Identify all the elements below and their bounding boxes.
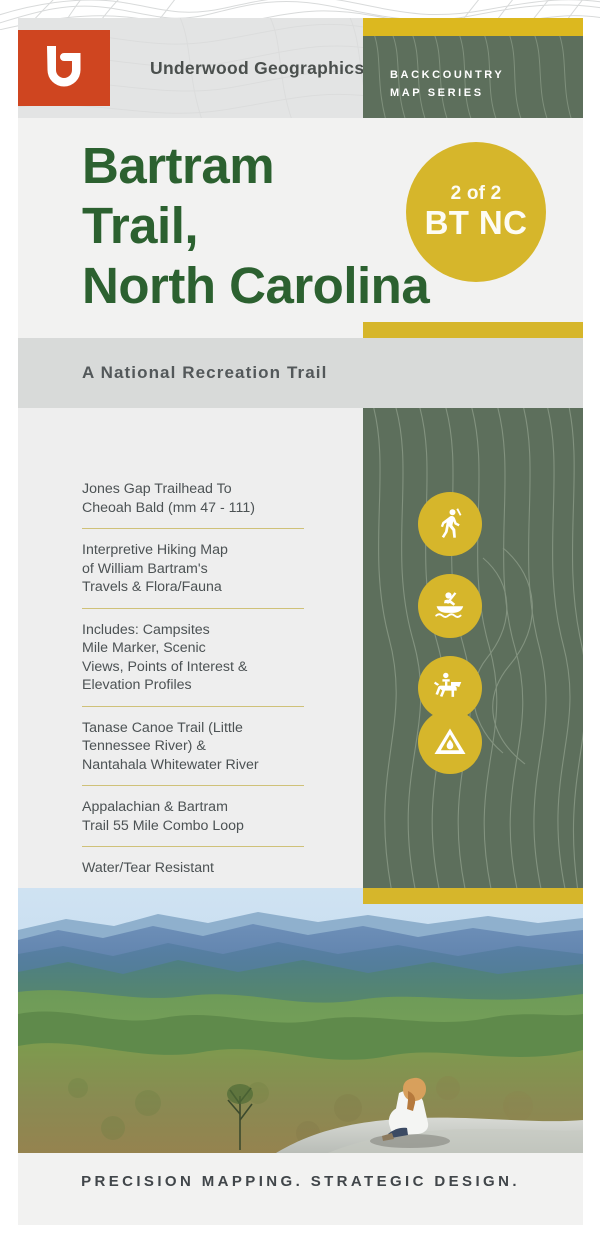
series-gold-bar bbox=[363, 18, 583, 36]
feature-item: Includes: Campsites Mile Marker, Scenic … bbox=[82, 621, 304, 707]
horseback-riding-icon bbox=[432, 671, 468, 705]
canoeing-icon bbox=[432, 589, 468, 623]
activity-camping-badge[interactable] bbox=[418, 710, 482, 774]
brand-name: Underwood Geographics bbox=[150, 18, 364, 118]
title-gold-accent-bar bbox=[363, 322, 583, 338]
subtitle-band: A National Recreation Trail bbox=[18, 338, 583, 408]
series-line-1: BACKCOUNTRY bbox=[390, 66, 504, 84]
panel-gold-accent-bar bbox=[363, 888, 583, 904]
footer-tagline: PRECISION MAPPING. STRATEGIC DESIGN. bbox=[81, 1173, 520, 1190]
features-panel: Jones Gap Trailhead To Cheoah Bald (mm 4… bbox=[18, 408, 363, 888]
activities-panel bbox=[363, 408, 583, 888]
features-list: Jones Gap Trailhead To Cheoah Bald (mm 4… bbox=[82, 480, 304, 878]
activity-hiking-badge[interactable] bbox=[418, 492, 482, 556]
cover-photo bbox=[18, 888, 583, 1153]
hiking-icon bbox=[433, 507, 467, 541]
footer-band: PRECISION MAPPING. STRATEGIC DESIGN. bbox=[18, 1153, 583, 1225]
feature-item: Interpretive Hiking Map of William Bartr… bbox=[82, 541, 304, 609]
feature-item: Jones Gap Trailhead To Cheoah Bald (mm 4… bbox=[82, 480, 304, 529]
brand-logo-tile[interactable] bbox=[18, 30, 110, 106]
subtitle-text: A National Recreation Trail bbox=[82, 363, 327, 383]
series-label: BACKCOUNTRY MAP SERIES bbox=[390, 66, 504, 102]
topographic-pattern-icon bbox=[363, 408, 583, 888]
feature-item: Appalachian & Bartram Trail 55 Mile Comb… bbox=[82, 798, 304, 847]
map-series-block: BACKCOUNTRY MAP SERIES bbox=[363, 18, 583, 118]
activity-canoeing-badge[interactable] bbox=[418, 574, 482, 638]
sheet-badge: 2 of 2 BT NC bbox=[406, 142, 546, 282]
series-green-panel: BACKCOUNTRY MAP SERIES bbox=[363, 36, 583, 118]
series-line-2: MAP SERIES bbox=[390, 84, 504, 102]
ug-monogram-logo-icon bbox=[43, 44, 85, 92]
title-area: Bartram Trail, North Carolina 2 of 2 BT … bbox=[18, 118, 583, 340]
badge-sheet-number: 2 of 2 bbox=[451, 183, 502, 205]
feature-item: Water/Tear Resistant bbox=[82, 859, 304, 878]
camping-tent-icon bbox=[433, 727, 467, 757]
map-cover: Underwood Geographics BACKCOUNTRY bbox=[0, 0, 600, 1243]
mountain-vista-illustration bbox=[18, 888, 583, 1153]
feature-item: Tanase Canoe Trail (Little Tennessee Riv… bbox=[82, 719, 304, 787]
page-title: Bartram Trail, North Carolina bbox=[82, 136, 429, 316]
badge-map-code: BT NC bbox=[425, 205, 528, 241]
